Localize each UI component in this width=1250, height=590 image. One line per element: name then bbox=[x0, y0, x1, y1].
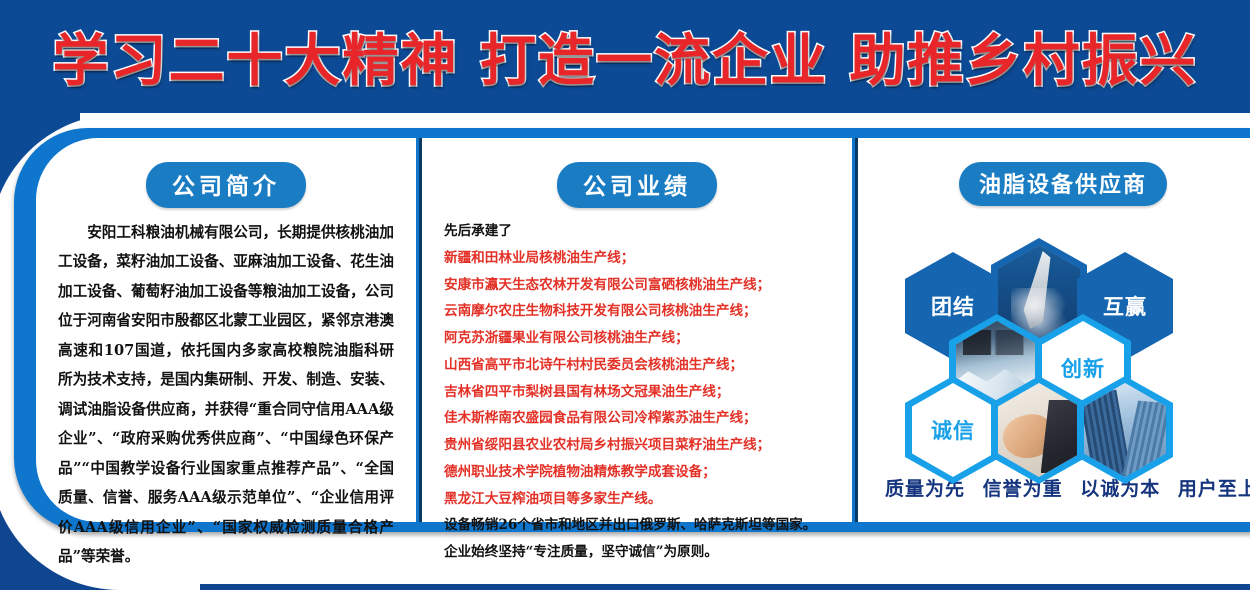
hexagon-label-unity: 团结 bbox=[931, 291, 975, 321]
project-item: 安康市瀛天生态农林开发有限公司富硒核桃油生产线； bbox=[444, 272, 830, 299]
project-item: 新疆和田林业局核桃油生产线； bbox=[444, 245, 830, 272]
performance-lead: 先后承建了 bbox=[444, 218, 830, 245]
hexagon-photo-inner bbox=[998, 383, 1080, 477]
hexagon-cluster: 团结 互赢 bbox=[883, 216, 1243, 466]
poster-headline: 学习二十大精神 打造一流企业 助推乡村振兴 bbox=[53, 16, 1198, 97]
badge-row-supplier: 油脂设备供应商 bbox=[880, 162, 1246, 206]
performance-footer-line: 设备畅销26个省市和地区并出口俄罗斯、哈萨克斯坦等国家。 bbox=[444, 512, 830, 539]
hexagon-label-innovation: 创新 bbox=[1061, 353, 1105, 383]
panel-company-intro: 公司简介 安阳工科粮油机械有限公司，长期提供核桃油加工设备，菜籽油加工设备、亚麻… bbox=[36, 138, 416, 522]
slogan-part: 用户至上 bbox=[1178, 478, 1250, 500]
project-item: 云南摩尔农庄生物科技开发有限公司核桃油生产线； bbox=[444, 298, 830, 325]
project-item: 贵州省绥阳县农业农村局乡村振兴项目菜籽油生产线； bbox=[444, 432, 830, 459]
hexagon-label-mutual-win: 互赢 bbox=[1103, 291, 1147, 321]
skyscraper-icon bbox=[1084, 383, 1166, 477]
company-intro-body: 安阳工科粮油机械有限公司，长期提供核桃油加工设备，菜籽油加工设备、亚麻油加工设备… bbox=[58, 218, 394, 572]
slogan-part: 信誉为重 bbox=[983, 478, 1063, 500]
hexagon-photo-inner bbox=[1084, 383, 1166, 477]
section-title-company-intro: 公司简介 bbox=[146, 162, 306, 208]
badge-row-performance: 公司业绩 bbox=[444, 162, 830, 208]
project-item: 阿克苏浙疆果业有限公司核桃油生产线； bbox=[444, 325, 830, 352]
content-frame: 公司简介 安阳工科粮油机械有限公司，长期提供核桃油加工设备，菜籽油加工设备、亚麻… bbox=[14, 128, 1250, 532]
project-item: 黑龙江大豆榨油项目等多家生产线。 bbox=[444, 486, 830, 513]
badge-row-intro: 公司简介 bbox=[58, 162, 394, 208]
header-band: 学习二十大精神 打造一流企业 助推乡村振兴 bbox=[0, 0, 1250, 113]
poster-root: 学习二十大精神 打造一流企业 助推乡村振兴 公司简介 安阳工科粮油机械有限公司，… bbox=[0, 0, 1250, 590]
handshake-icon bbox=[998, 383, 1080, 477]
panel-company-performance: 公司业绩 先后承建了 新疆和田林业局核桃油生产线； 安康市瀛天生态农林开发有限公… bbox=[422, 138, 852, 522]
panels-container: 公司简介 安阳工科粮油机械有限公司，长期提供核桃油加工设备，菜籽油加工设备、亚麻… bbox=[36, 138, 1250, 522]
hexagon-label-integrity: 诚信 bbox=[931, 415, 975, 445]
project-item: 德州职业技术学院植物油精炼教学成套设备； bbox=[444, 459, 830, 486]
project-item: 吉林省四平市梨树县国有林场文冠果油生产线； bbox=[444, 379, 830, 406]
section-title-supplier: 油脂设备供应商 bbox=[959, 162, 1167, 206]
project-item: 佳木斯桦南农盛园食品有限公司冷榨紫苏油生产线； bbox=[444, 405, 830, 432]
performance-list: 先后承建了 新疆和田林业局核桃油生产线； 安康市瀛天生态农林开发有限公司富硒核桃… bbox=[444, 218, 830, 566]
panel-supplier: 油脂设备供应商 团结 互赢 bbox=[858, 138, 1250, 522]
performance-footer-line: 企业始终坚持“专注质量，坚守诚信”为原则。 bbox=[444, 539, 830, 566]
section-title-company-performance: 公司业绩 bbox=[557, 162, 717, 208]
supplier-slogan: 质量为先 信誉为重 以诚为本 用户至上 bbox=[880, 474, 1246, 501]
project-item: 山西省高平市北诗午村村民委员会核桃油生产线； bbox=[444, 352, 830, 379]
hexagon-integrity-inner: 诚信 bbox=[912, 383, 994, 477]
